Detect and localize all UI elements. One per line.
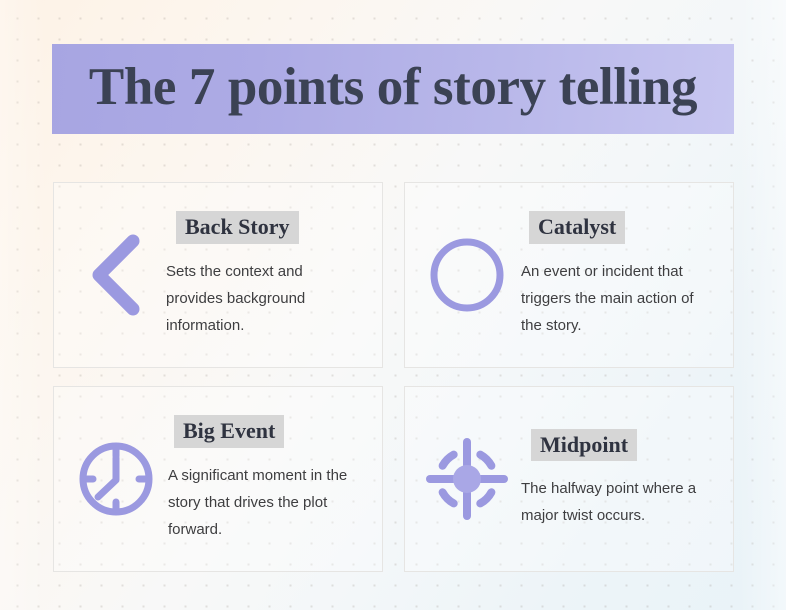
card-text-block: Back Story Sets the context and provides… (164, 211, 376, 339)
card-text-block: Catalyst An event or incident that trigg… (515, 211, 727, 339)
header-banner: The 7 points of story telling (52, 44, 734, 134)
crosshair-icon (419, 431, 515, 527)
circle-icon (419, 227, 515, 323)
card-label: Midpoint (531, 429, 637, 462)
card-text-block: Midpoint The halfway point where a major… (515, 429, 727, 530)
card-label: Back Story (176, 211, 299, 244)
card-description: The halfway point where a major twist oc… (521, 475, 711, 529)
clock-icon (68, 431, 164, 527)
card-label: Catalyst (529, 211, 625, 244)
card-description: A significant moment in the story that d… (168, 462, 364, 543)
story-card-catalyst[interactable]: Catalyst An event or incident that trigg… (404, 182, 734, 368)
card-text-block: Big Event A significant moment in the st… (164, 415, 376, 543)
chevron-left-icon (68, 227, 164, 323)
card-description: An event or incident that triggers the m… (521, 258, 711, 339)
story-points-grid: Back Story Sets the context and provides… (53, 182, 734, 572)
story-card-back-story[interactable]: Back Story Sets the context and provides… (53, 182, 383, 368)
story-card-midpoint[interactable]: Midpoint The halfway point where a major… (404, 386, 734, 572)
story-card-big-event[interactable]: Big Event A significant moment in the st… (53, 386, 383, 572)
slide-canvas: The 7 points of story telling Back Story… (0, 0, 786, 610)
card-description: Sets the context and provides background… (166, 258, 354, 339)
card-label: Big Event (174, 415, 284, 448)
page-title: The 7 points of story telling (89, 61, 697, 117)
